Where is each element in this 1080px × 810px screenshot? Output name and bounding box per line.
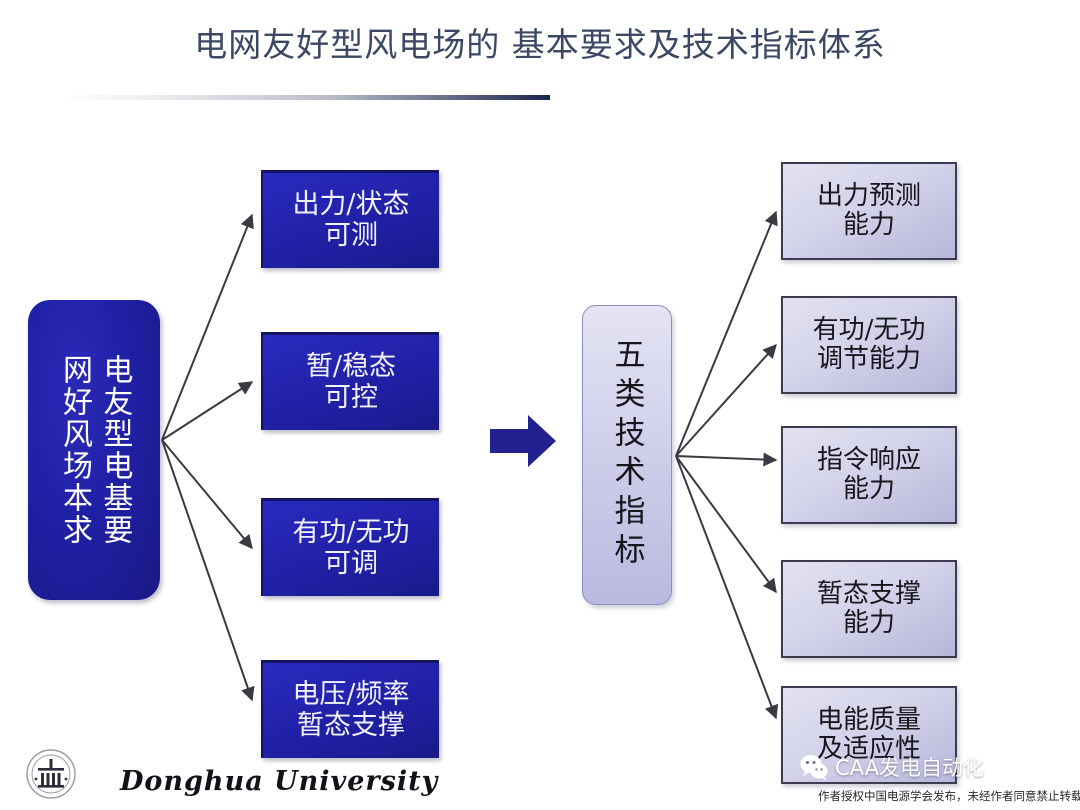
indicator-box-4-text: 暂态支撑 能力	[783, 562, 955, 656]
root-node-grid-friendly-wind-farm[interactable]: 电友型电基要 网好风场本求	[28, 300, 160, 600]
indicator-box-3-text: 指令响应 能力	[783, 428, 955, 522]
requirement-box-2-line1: 暂/稳态	[306, 352, 396, 382]
indicator-box-4-line2: 能力	[843, 609, 895, 638]
root-node-text: 电友型电基要 网好风场本求	[28, 300, 160, 600]
requirement-box-2-line2: 可控	[324, 383, 378, 413]
requirement-box-4-line2: 暂态支撑	[297, 711, 405, 741]
requirement-box-2-text: 暂/稳态 可控	[263, 335, 439, 430]
copyright-notice: 作者授权中国电源学会发布，未经作者同意禁止转载	[818, 788, 1080, 804]
requirement-box-3-line1: 有功/无功	[292, 518, 409, 548]
indicator-box-3-line1: 指令响应	[817, 446, 921, 475]
brand-name-donghua-university: Donghua University	[120, 766, 438, 797]
requirement-box-4-line1: 电压/频率	[292, 680, 409, 710]
indicator-box-5-line1: 电能质量	[817, 706, 921, 735]
indicator-box-1-text: 出力预测 能力	[783, 164, 955, 258]
indicator-box-1-line1: 出力预测	[817, 182, 921, 211]
requirement-box-4-text: 电压/频率 暂态支撑	[263, 663, 439, 758]
root-node-column-left: 网好风场本求	[55, 354, 93, 546]
indicator-box-1[interactable]: 出力预测 能力	[781, 162, 957, 260]
watermark-text: CAA发电自动化	[835, 752, 984, 782]
indicator-box-2-text: 有功/无功 调节能力	[783, 298, 955, 392]
watermark-caa: CAA发电自动化	[800, 752, 984, 782]
indicator-box-4-line1: 暂态支撑	[817, 580, 921, 609]
wechat-icon	[800, 753, 828, 781]
requirement-box-2[interactable]: 暂/稳态 可控	[261, 332, 439, 430]
indicator-box-2[interactable]: 有功/无功 调节能力	[781, 296, 957, 394]
slide-canvas: 电网友好型风电场的 基本要求及技术指标体系 电友型电基要	[0, 0, 1080, 810]
root-node-column-right: 电友型电基要	[95, 354, 133, 546]
requirement-box-3-text: 有功/无功 可调	[263, 501, 439, 596]
requirement-box-1-text: 出力/状态 可测	[263, 173, 439, 268]
requirement-box-1-line2: 可测	[324, 221, 378, 251]
center-node-label: 五类技术指标	[583, 306, 671, 604]
indicator-box-3[interactable]: 指令响应 能力	[781, 426, 957, 524]
page-title: 电网友好型风电场的 基本要求及技术指标体系	[0, 18, 1080, 66]
requirement-box-3-line2: 可调	[324, 549, 378, 579]
requirement-box-1-line1: 出力/状态	[292, 190, 409, 220]
indicator-box-2-line2: 调节能力	[817, 345, 921, 374]
university-seal-logo-icon	[25, 748, 77, 800]
indicator-box-1-line2: 能力	[843, 211, 895, 240]
requirement-box-4[interactable]: 电压/频率 暂态支撑	[261, 660, 439, 758]
indicator-box-2-line1: 有功/无功	[813, 316, 926, 345]
requirement-box-1[interactable]: 出力/状态 可测	[261, 170, 439, 268]
indicator-box-3-line2: 能力	[843, 475, 895, 504]
requirement-box-3[interactable]: 有功/无功 可调	[261, 498, 439, 596]
indicator-box-4[interactable]: 暂态支撑 能力	[781, 560, 957, 658]
title-underline-rule	[62, 95, 550, 100]
right-block-arrow-icon	[488, 412, 558, 470]
center-node-five-technical-indicators[interactable]: 五类技术指标	[582, 305, 672, 605]
